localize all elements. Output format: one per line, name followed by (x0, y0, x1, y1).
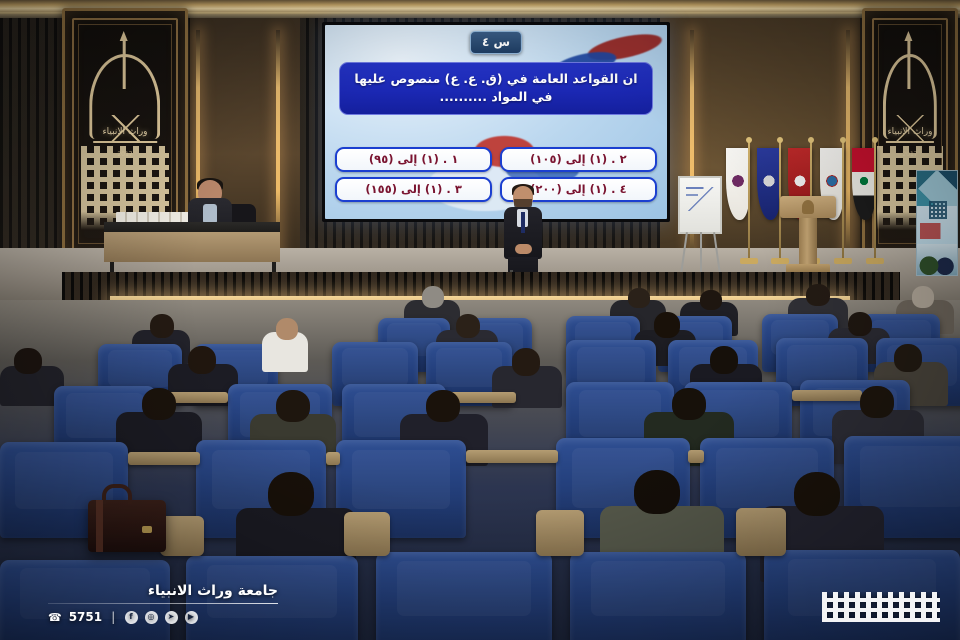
telegram-icon[interactable]: ➤ (165, 611, 178, 624)
seat-armrest (792, 390, 862, 401)
question-text: ان القواعد العامة في (ق. ع. ع) منصوص علي… (339, 62, 654, 116)
audience-head (422, 286, 444, 308)
flag-base (740, 258, 758, 264)
auditorium-seat[interactable] (376, 552, 552, 640)
phone-icon: ☎ (48, 611, 62, 624)
audience-head (912, 286, 934, 308)
flag-finial-icon (872, 137, 878, 143)
banner-seal-icon (929, 201, 947, 219)
flag-pole (748, 142, 750, 260)
phone-number: 5751 (69, 610, 102, 624)
flag-emblem (824, 172, 840, 190)
leather-briefcase (88, 500, 166, 552)
audience-head (848, 312, 872, 336)
briefcase-strap (96, 500, 103, 552)
briefcase-clasp (142, 526, 152, 533)
answer-option-1[interactable]: ١ . (١) إلى (٩٥) (335, 147, 492, 172)
audience-head (268, 472, 314, 516)
organization-name: جامعة وراث الانبياء (48, 583, 278, 603)
audience-head (188, 346, 216, 374)
answer-option-3[interactable]: ٣ . (١) إلى (١٥٥) (335, 177, 492, 202)
audience-head (276, 318, 298, 340)
instagram-icon[interactable]: ◎ (145, 611, 158, 624)
seat-armrest (344, 512, 390, 556)
decor-panel-word: وراث الانبياء (65, 127, 185, 137)
audience-head (426, 390, 460, 422)
branding-divider (48, 603, 278, 604)
emblem-pen-icon (908, 39, 911, 89)
flipchart-writing (686, 187, 718, 211)
university-emblem (875, 45, 945, 153)
branding-overlay: جامعة وراث الانبياء ☎ 5751 | f ◎ ➤ ▶ (48, 583, 278, 624)
audience-head (710, 346, 738, 374)
contact-separator: | (111, 610, 115, 624)
flag-emblem (761, 172, 777, 190)
facebook-icon[interactable]: f (125, 611, 138, 624)
audience-head (806, 284, 830, 306)
audience-head (150, 314, 174, 338)
flag-finial-icon (746, 137, 752, 143)
kufic-logo-mark (822, 592, 940, 622)
flag-iraq (852, 148, 878, 230)
seat-armrest (688, 450, 704, 463)
flag-base (866, 258, 884, 264)
flag-finial-icon (840, 137, 846, 143)
banner-photo (917, 244, 957, 275)
briefcase-handle (102, 484, 132, 504)
flipchart-whiteboard (678, 176, 722, 234)
podium-emblem-icon (802, 200, 814, 214)
flipchart-leg (700, 232, 702, 274)
presenter-tie (521, 212, 525, 233)
seat-armrest (736, 508, 786, 556)
auditorium-photo: وراث الانبياء 2017 وراث الانبياء 2017 س … (0, 0, 960, 640)
audience-head (654, 312, 680, 338)
wall-light-strip (846, 30, 850, 260)
seat-armrest (536, 510, 584, 556)
audience-head (700, 290, 722, 310)
contact-row: ☎ 5751 | f ◎ ➤ ▶ (48, 610, 278, 624)
flag-finial-icon (808, 137, 814, 143)
flag-syndicate (726, 148, 752, 230)
audience-head (894, 344, 922, 372)
emblem-pen-icon (123, 39, 126, 89)
audience-head (672, 388, 706, 420)
auditorium-seat[interactable] (570, 552, 746, 640)
flag-emblem (856, 172, 872, 190)
audience-head (142, 388, 176, 420)
university-emblem (78, 45, 172, 153)
audience-head (456, 314, 480, 338)
seat-armrest (128, 452, 200, 465)
audience-head (512, 348, 540, 376)
answer-option-2[interactable]: ٢ . (١) إلى (١٠٥) (500, 147, 657, 172)
audience-head (860, 386, 894, 418)
seat-armrest (160, 516, 204, 556)
audience-head (14, 348, 42, 374)
presenter-hands (515, 244, 532, 254)
seat-armrest (466, 450, 558, 463)
banner-headline (920, 223, 954, 239)
flag-pole (842, 142, 844, 260)
rollup-banner (916, 170, 958, 276)
flag-emblem (730, 172, 746, 190)
youtube-icon[interactable]: ▶ (185, 611, 198, 624)
flag-pole (874, 142, 876, 260)
seat-armrest (326, 452, 340, 465)
moderator-desk-panel (104, 232, 280, 262)
question-number-badge: س ٤ (470, 31, 522, 54)
audience-head (634, 470, 680, 514)
flag-emblem (792, 172, 808, 190)
wooden-podium (780, 196, 836, 278)
podium-stem (799, 218, 817, 264)
waret-alanbiya-kufic-logo (822, 592, 940, 622)
seated-moderator-shirt (203, 204, 217, 224)
flag-base (834, 258, 852, 264)
audience-head (794, 472, 840, 516)
audience-head (628, 288, 650, 308)
decor-panel-word: وراث الانبياء (865, 127, 955, 137)
flag-finial-icon (777, 137, 783, 143)
audience-head (276, 390, 310, 422)
